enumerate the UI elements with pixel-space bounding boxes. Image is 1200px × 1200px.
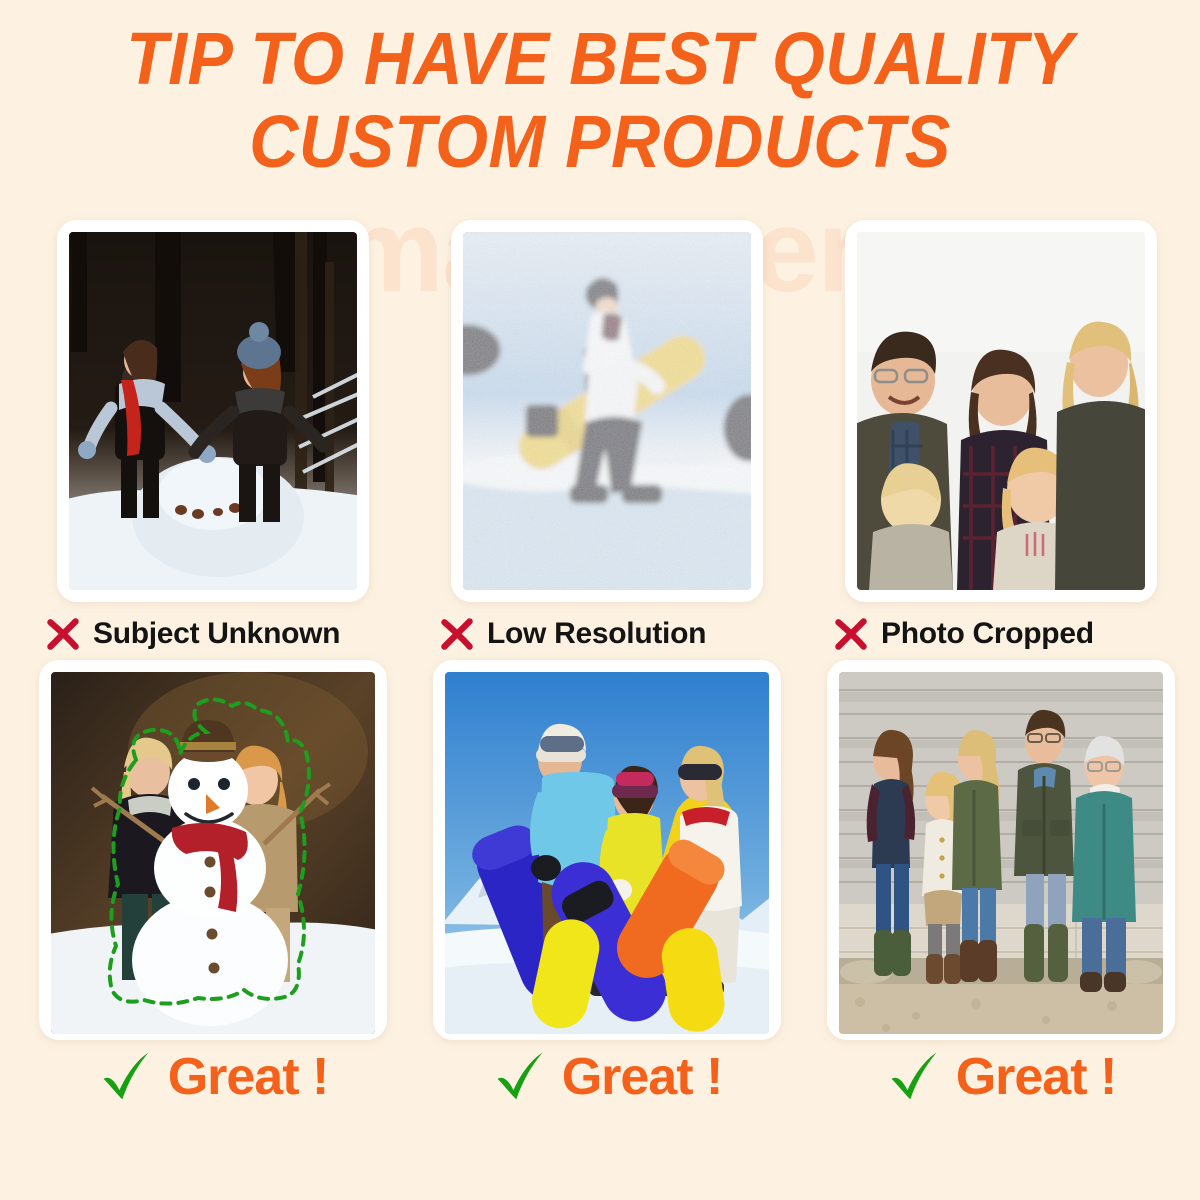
x-mark-icon bbox=[833, 616, 869, 652]
check-mark-icon bbox=[886, 1049, 942, 1105]
check-mark-icon bbox=[98, 1049, 154, 1105]
photo-low-resolution bbox=[463, 232, 751, 590]
label-low-resolution: Low Resolution bbox=[417, 616, 797, 652]
photo-card bbox=[57, 220, 369, 602]
photo-card bbox=[433, 660, 781, 1040]
label-photo-cropped: Photo Cropped bbox=[811, 616, 1191, 652]
photo-illustration-pixelated-snowboarder bbox=[463, 232, 751, 590]
page-title: TIP TO HAVE BEST QUALITY CUSTOM PRODUCTS bbox=[48, 18, 1152, 184]
photo-card bbox=[39, 660, 387, 1040]
label-text: Subject Unknown bbox=[93, 617, 340, 651]
photo-great-snowman bbox=[51, 672, 375, 1034]
page-title-line1: TIP TO HAVE BEST QUALITY bbox=[48, 18, 1152, 101]
label-great-snowman: Great ! bbox=[23, 1040, 403, 1114]
bad-examples-row: Subject Unknown bbox=[14, 220, 1200, 652]
photo-illustration-snow-forest bbox=[69, 232, 357, 590]
example-photo-cropped[interactable]: Photo Cropped bbox=[811, 220, 1191, 652]
photo-card bbox=[451, 220, 763, 602]
photo-photo-cropped bbox=[857, 232, 1145, 590]
label-subject-unknown: Subject Unknown bbox=[23, 616, 403, 652]
example-great-snowman[interactable]: Great ! bbox=[23, 660, 403, 1114]
photo-illustration-family-barn bbox=[839, 672, 1163, 1034]
photo-card bbox=[845, 220, 1157, 602]
photo-illustration-snowman-outlined bbox=[51, 672, 375, 1034]
label-great-family: Great ! bbox=[811, 1040, 1191, 1114]
example-low-resolution[interactable]: Low Resolution bbox=[417, 220, 797, 652]
example-subject-unknown[interactable]: Subject Unknown bbox=[23, 220, 403, 652]
example-great-snowboarders[interactable]: Great ! bbox=[417, 660, 797, 1114]
photo-great-family bbox=[839, 672, 1163, 1034]
photo-illustration-three-snowboarders bbox=[445, 672, 769, 1034]
check-mark-icon bbox=[492, 1049, 548, 1105]
label-great-snowboarders: Great ! bbox=[417, 1040, 797, 1114]
page-title-line2: CUSTOM PRODUCTS bbox=[48, 101, 1152, 184]
label-text: Great ! bbox=[168, 1051, 329, 1103]
photo-great-snowboarders bbox=[445, 672, 769, 1034]
label-text: Great ! bbox=[562, 1051, 723, 1103]
comparison-grid: Subject Unknown bbox=[0, 220, 1200, 1114]
example-great-family[interactable]: Great ! bbox=[811, 660, 1191, 1114]
good-examples-row: Great ! bbox=[14, 660, 1200, 1114]
label-text: Great ! bbox=[956, 1051, 1117, 1103]
photo-card bbox=[827, 660, 1175, 1040]
photo-illustration-cropped-family bbox=[857, 232, 1145, 590]
x-mark-icon bbox=[439, 616, 475, 652]
photo-subject-unknown bbox=[69, 232, 357, 590]
x-mark-icon bbox=[45, 616, 81, 652]
label-text: Low Resolution bbox=[487, 617, 706, 651]
label-text: Photo Cropped bbox=[881, 617, 1094, 651]
